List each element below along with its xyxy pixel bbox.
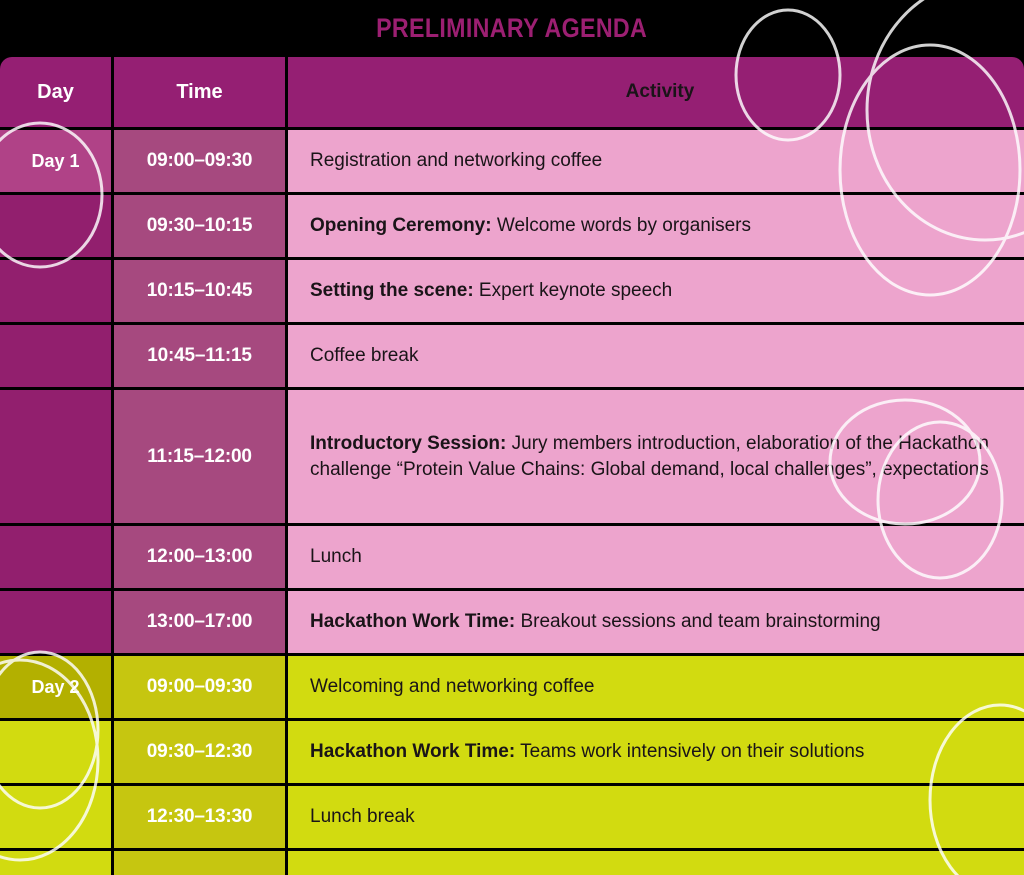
day-spacer-cell <box>0 591 114 656</box>
day-spacer-cell <box>0 786 114 851</box>
time-cell: 13:30–15:00 <box>114 851 288 875</box>
activity-text: Welcoming and networking coffee <box>310 676 594 697</box>
column-header-time: Time <box>114 57 288 130</box>
activity-cell: Opening Ceremony: Welcome words by organ… <box>288 195 1024 260</box>
activity-text: Lunch <box>310 546 362 567</box>
table-row: 13:30–15:00Pitch Preparation: Teams fina… <box>0 851 1024 875</box>
time-cell: 12:30–13:30 <box>114 786 288 851</box>
table-row: 09:30–10:15Opening Ceremony: Welcome wor… <box>0 195 1024 260</box>
activity-cell: Registration and networking coffee <box>288 130 1024 195</box>
day-spacer-cell <box>0 195 114 260</box>
day-label-cell: Day 2 <box>0 656 114 721</box>
activity-lead: Setting the scene: <box>310 280 474 301</box>
day-label-cell: Day 1 <box>0 130 114 195</box>
time-cell: 12:00–13:00 <box>114 526 288 591</box>
activity-cell: Hackathon Work Time: Breakout sessions a… <box>288 591 1024 656</box>
agenda-table: Day Time Activity Day 109:00–09:30Regist… <box>0 57 1024 875</box>
activity-text: Teams work intensively on their solution… <box>515 741 864 762</box>
activity-cell: Lunch <box>288 526 1024 591</box>
column-header-activity: Activity <box>288 57 1024 130</box>
activity-text: Expert keynote speech <box>474 280 673 301</box>
time-cell: 09:00–09:30 <box>114 656 288 721</box>
activity-lead: Hackathon Work Time: <box>310 741 515 762</box>
activity-cell: Introductory Session: Jury members intro… <box>288 390 1024 526</box>
table-row: 10:45–11:15Coffee break <box>0 325 1024 390</box>
activity-cell: Lunch break <box>288 786 1024 851</box>
day-spacer-cell <box>0 526 114 591</box>
activity-cell: Setting the scene: Expert keynote speech <box>288 260 1024 325</box>
table-body: Day 109:00–09:30Registration and network… <box>0 130 1024 875</box>
page-title: PRELIMINARY AGENDA <box>0 0 1024 57</box>
activity-cell: Pitch Preparation: Teams finalise their … <box>288 851 1024 875</box>
table-row: 10:15–10:45Setting the scene: Expert key… <box>0 260 1024 325</box>
day-spacer-cell <box>0 260 114 325</box>
table-header: Day Time Activity <box>0 57 1024 130</box>
page-title-text: PRELIMINARY AGENDA <box>376 13 647 44</box>
day-spacer-cell <box>0 390 114 526</box>
activity-text: Coffee break <box>310 345 418 366</box>
time-cell: 11:15–12:00 <box>114 390 288 526</box>
table-row: 12:30–13:30Lunch break <box>0 786 1024 851</box>
agenda-table-container: Day Time Activity Day 109:00–09:30Regist… <box>0 57 1024 875</box>
activity-text: Lunch break <box>310 806 415 827</box>
activity-lead: Introductory Session: <box>310 433 506 454</box>
time-cell: 09:30–10:15 <box>114 195 288 260</box>
activity-cell: Welcoming and networking coffee <box>288 656 1024 721</box>
time-cell: 10:15–10:45 <box>114 260 288 325</box>
day-spacer-cell <box>0 851 114 875</box>
day-spacer-cell <box>0 325 114 390</box>
activity-text: Registration and networking coffee <box>310 150 602 171</box>
table-row: 13:00–17:00Hackathon Work Time: Breakout… <box>0 591 1024 656</box>
table-row: 12:00–13:00Lunch <box>0 526 1024 591</box>
activity-text: Welcome words by organisers <box>492 215 751 236</box>
agenda-poster: PRELIMINARY AGENDA Day Time Activity Day… <box>0 0 1024 875</box>
time-cell: 10:45–11:15 <box>114 325 288 390</box>
table-row: Day 209:00–09:30Welcoming and networking… <box>0 656 1024 721</box>
time-cell: 09:00–09:30 <box>114 130 288 195</box>
time-cell: 09:30–12:30 <box>114 721 288 786</box>
table-row: Day 109:00–09:30Registration and network… <box>0 130 1024 195</box>
activity-text: Breakout sessions and team brainstorming <box>515 611 880 632</box>
column-header-day: Day <box>0 57 114 130</box>
activity-cell: Coffee break <box>288 325 1024 390</box>
activity-lead: Hackathon Work Time: <box>310 611 515 632</box>
table-row: 11:15–12:00Introductory Session: Jury me… <box>0 390 1024 526</box>
table-header-row: Day Time Activity <box>0 57 1024 130</box>
day-spacer-cell <box>0 721 114 786</box>
activity-lead: Opening Ceremony: <box>310 215 492 236</box>
table-row: 09:30–12:30Hackathon Work Time: Teams wo… <box>0 721 1024 786</box>
time-cell: 13:00–17:00 <box>114 591 288 656</box>
activity-cell: Hackathon Work Time: Teams work intensiv… <box>288 721 1024 786</box>
